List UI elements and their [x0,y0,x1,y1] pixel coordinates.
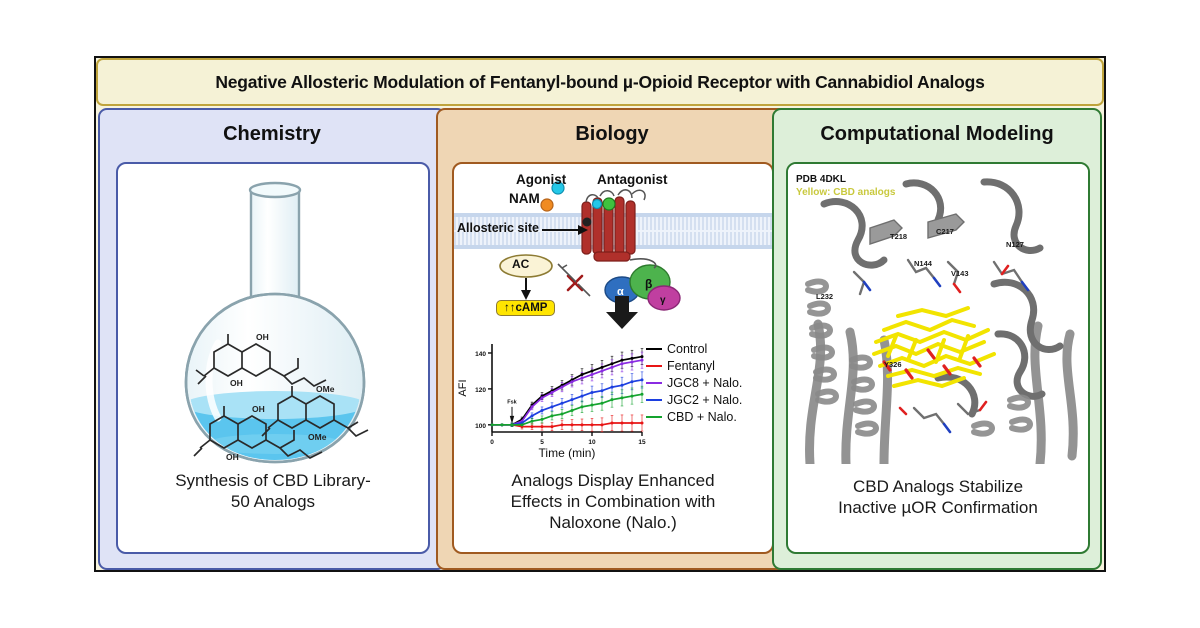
antagonist-label: Antagonist [597,172,668,187]
computational-card: PDB 4DKL Yellow: CBD analogs T218 C217 N… [786,162,1090,554]
svg-text:140: 140 [475,351,486,358]
graphical-abstract: Negative Allosteric Modulation of Fentan… [0,0,1200,628]
nam-bound-dot [583,218,592,227]
legend-swatch [646,382,662,384]
svg-text:10: 10 [588,439,596,446]
molecule-label-oh: OH [230,378,243,388]
legend-swatch [646,399,662,401]
biology-caption-line1: Analogs Display Enhanced [462,470,764,491]
svg-text:Time (min): Time (min) [539,446,596,460]
agonist-label: Agonist [516,172,566,187]
legend-swatch [646,416,662,418]
panel-computational-title: Computational Modeling [820,123,1053,146]
legend-label: Control [667,342,707,356]
chemistry-caption-line2: 50 Analogs [126,491,420,512]
panel-chemistry-title: Chemistry [223,123,321,146]
biology-card: α β γ Agonist NAM Antagonist Allosteric … [452,162,774,554]
residue-label-l232: L232 [816,292,833,301]
antagonist-ligand-dot [603,198,615,210]
ligand-color-legend: Yellow: CBD analogs [796,187,895,198]
svg-text:Fsk: Fsk [507,399,517,405]
molecule-label-oh: OH [226,452,239,462]
protein-structure-render [788,164,1088,464]
chemistry-caption: Synthesis of CBD Library- 50 Analogs [126,470,420,512]
residue-label-n144: N144 [914,259,932,268]
legend-swatch [646,348,662,350]
svg-text:15: 15 [638,439,646,446]
allosteric-site-label: Allosteric site [457,221,539,235]
legend-item: Control [646,340,742,357]
computational-caption: CBD Analogs Stabilize Inactive µOR Confi… [796,476,1080,518]
legend-item: CBD + Nalo. [646,408,742,425]
flow-down-arrow [604,296,640,330]
figure-title: Negative Allosteric Modulation of Fentan… [215,72,984,93]
svg-text:0: 0 [490,439,494,446]
legend-label: JGC8 + Nalo. [667,376,742,390]
g-gamma-label: γ [660,295,666,306]
biology-caption-line2: Effects in Combination with [462,491,764,512]
panels-row: Chemistry [96,108,1104,570]
molecule-label-oh: OH [252,404,265,414]
chart-legend: Control Fentanyl JGC8 + Nalo. JGC2 + Nal… [646,340,742,425]
agonist-ligand-dot [593,200,602,209]
camp-assay-chart: 100120140051015Time (min)AFIFsk Control … [456,334,774,462]
computational-caption-line1: CBD Analogs Stabilize [796,476,1080,497]
panel-computational-modeling: Computational Modeling [772,108,1102,570]
panel-computational-header: Computational Modeling [774,110,1100,158]
svg-text:120: 120 [475,387,486,394]
flask-illustration: OH OH OH O [118,168,428,468]
svg-text:100: 100 [475,423,486,430]
molecule-label-oh: OH [256,332,269,342]
biology-caption-line3: Naloxone (Nalo.) [462,512,764,533]
residue-label-n127: N127 [1006,240,1024,249]
pdb-id-label: PDB 4DKL [796,174,846,185]
legend-swatch [646,365,662,367]
chemistry-caption-line1: Synthesis of CBD Library- [126,470,420,491]
svg-text:5: 5 [540,439,544,446]
panel-biology-title: Biology [575,123,648,146]
nam-legend-dot [541,199,553,211]
panel-chemistry-header: Chemistry [100,110,444,158]
residue-label-y326: Y326 [884,360,902,369]
molecule-label-ome: OMe [316,384,335,394]
nam-label: NAM [509,191,540,206]
panel-biology-header: Biology [438,110,786,158]
residue-label-v143: V143 [951,269,969,278]
panel-biology: Biology [436,108,788,570]
figure-frame: Negative Allosteric Modulation of Fentan… [94,56,1106,572]
legend-label: CBD + Nalo. [667,410,737,424]
biology-caption: Analogs Display Enhanced Effects in Comb… [462,470,764,533]
figure-title-banner: Negative Allosteric Modulation of Fentan… [96,58,1104,106]
panel-chemistry: Chemistry [98,108,446,570]
computational-caption-line2: Inactive µOR Confirmation [796,497,1080,518]
legend-label: JGC2 + Nalo. [667,393,742,407]
svg-text:AFI: AFI [457,379,469,396]
g-beta-label: β [645,277,652,291]
legend-item: JGC8 + Nalo. [646,374,742,391]
residue-label-t218: T218 [890,232,907,241]
legend-label: Fentanyl [667,359,715,373]
molecule-label-ome: OMe [308,432,327,442]
camp-badge: ↑↑cAMP [496,300,555,316]
residue-label-c217: C217 [936,227,954,236]
legend-item: JGC2 + Nalo. [646,391,742,408]
legend-item: Fentanyl [646,357,742,374]
adenylyl-cyclase-label: AC [512,257,529,271]
chemistry-card: OH OH OH O [116,162,430,554]
